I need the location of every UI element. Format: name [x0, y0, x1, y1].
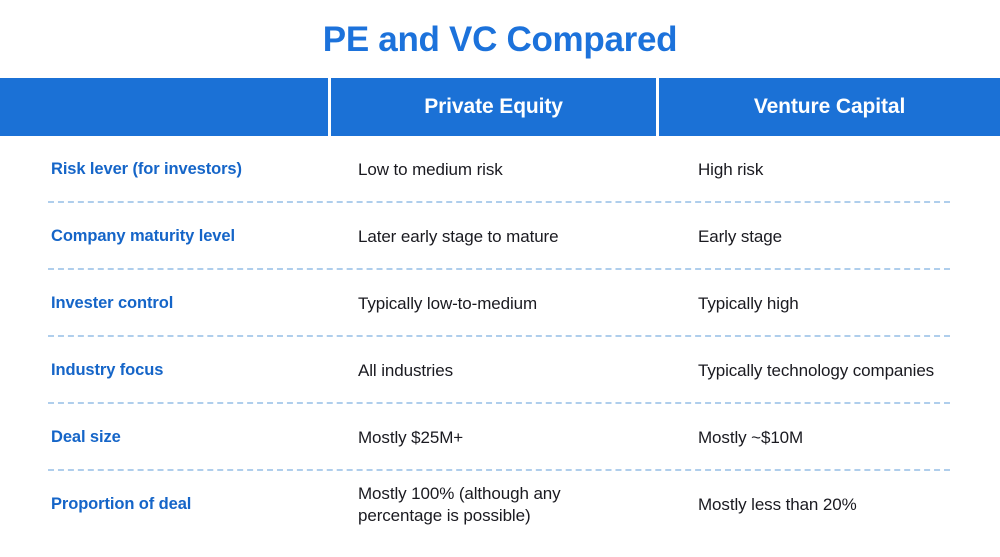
table-row: Proportion of deal Mostly 100% (although… — [0, 471, 1000, 538]
table-cell-venture-capital: Early stage — [657, 203, 1000, 270]
row-label: Risk lever (for investors) — [51, 159, 242, 180]
table-cell-venture-capital: High risk — [657, 136, 1000, 203]
row-value-venture-capital: Mostly ~$10M — [698, 427, 803, 449]
row-value-venture-capital: Mostly less than 20% — [698, 494, 857, 516]
table-row: Invester control Typically low-to-medium… — [0, 270, 1000, 337]
table-cell-private-equity: Low to medium risk — [330, 136, 657, 203]
table-row: Risk lever (for investors) Low to medium… — [0, 136, 1000, 203]
table-row: Deal size Mostly $25M+ Mostly ~$10M — [0, 404, 1000, 471]
row-value-private-equity: Mostly 100% (although any percentage is … — [358, 483, 643, 527]
table-cell-attribute: Invester control — [0, 270, 330, 337]
row-value-private-equity: Mostly $25M+ — [358, 427, 463, 449]
row-value-private-equity: Typically low-to-medium — [358, 293, 537, 315]
row-value-private-equity: Low to medium risk — [358, 159, 503, 181]
table-cell-venture-capital: Mostly less than 20% — [657, 471, 1000, 538]
table-cell-venture-capital: Mostly ~$10M — [657, 404, 1000, 471]
table-cell-private-equity: Later early stage to mature — [330, 203, 657, 270]
title-area: PE and VC Compared — [0, 0, 1000, 78]
row-label: Invester control — [51, 293, 173, 314]
page-title: PE and VC Compared — [323, 22, 677, 57]
table-cell-private-equity: Mostly $25M+ — [330, 404, 657, 471]
table-cell-private-equity: Mostly 100% (although any percentage is … — [330, 471, 657, 538]
table-header-cell-attribute — [0, 78, 328, 136]
row-value-private-equity: All industries — [358, 360, 453, 382]
table-cell-attribute: Company maturity level — [0, 203, 330, 270]
table-cell-attribute: Industry focus — [0, 337, 330, 404]
table-cell-attribute: Deal size — [0, 404, 330, 471]
row-label: Industry focus — [51, 360, 163, 381]
comparison-table-page: PE and VC Compared Private Equity Ventur… — [0, 0, 1000, 557]
row-value-private-equity: Later early stage to mature — [358, 226, 558, 248]
table-row: Company maturity level Later early stage… — [0, 203, 1000, 270]
row-label: Company maturity level — [51, 226, 235, 247]
table-header-row: Private Equity Venture Capital — [0, 78, 1000, 136]
row-value-venture-capital: Typically high — [698, 293, 799, 315]
row-label: Deal size — [51, 427, 121, 448]
table-cell-private-equity: Typically low-to-medium — [330, 270, 657, 337]
table-header-cell-private-equity: Private Equity — [331, 78, 656, 136]
row-value-venture-capital: Typically technology companies — [698, 360, 934, 382]
table-body: Risk lever (for investors) Low to medium… — [0, 136, 1000, 538]
row-value-venture-capital: High risk — [698, 159, 763, 181]
table-header-label-private-equity: Private Equity — [424, 95, 563, 119]
table-cell-private-equity: All industries — [330, 337, 657, 404]
table-cell-attribute: Proportion of deal — [0, 471, 330, 538]
table-header-cell-venture-capital: Venture Capital — [659, 78, 1000, 136]
table-cell-venture-capital: Typically technology companies — [657, 337, 1000, 404]
table-cell-venture-capital: Typically high — [657, 270, 1000, 337]
table-row: Industry focus All industries Typically … — [0, 337, 1000, 404]
row-label: Proportion of deal — [51, 494, 191, 515]
table-header-label-venture-capital: Venture Capital — [754, 95, 905, 119]
row-value-venture-capital: Early stage — [698, 226, 782, 248]
table-cell-attribute: Risk lever (for investors) — [0, 136, 330, 203]
